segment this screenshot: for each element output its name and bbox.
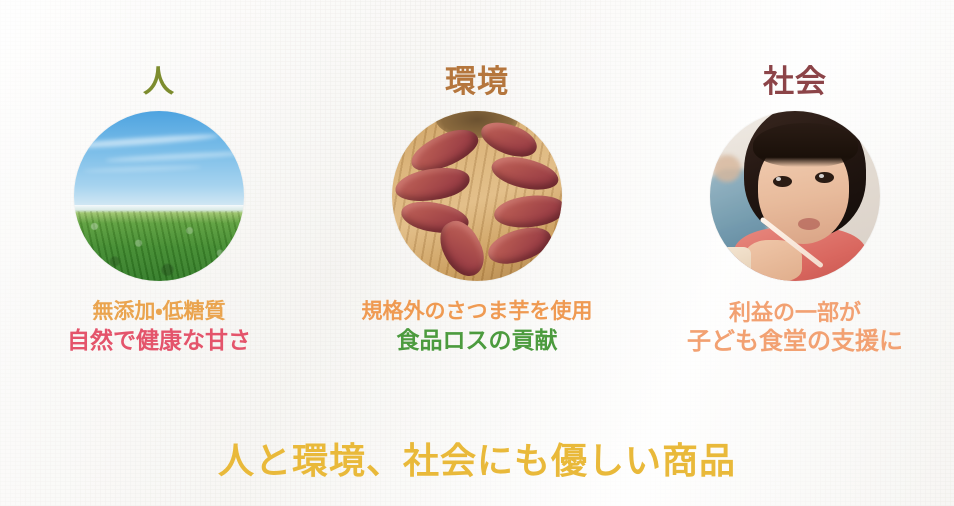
pillar-heading-hito: 人 xyxy=(143,66,175,97)
child-photo-scene xyxy=(710,111,880,281)
pillar-caption-shakai: 利益の一部が 子ども食堂の支援に xyxy=(687,299,903,358)
pillar-heading-shakai: 社会 xyxy=(763,66,827,97)
caption-line-secondary: 食品ロスの貢献 xyxy=(362,326,593,355)
value-pillar-hito: 人 無添加・低糖質 自然で健康な甘さ xyxy=(0,0,318,400)
slide-tagline: 人と環境、社会にも優しい商品 xyxy=(0,432,954,484)
sweet-potato-field-photo xyxy=(74,111,244,281)
drink-cup xyxy=(710,247,751,281)
cloud-streak-icon xyxy=(74,133,219,151)
caption-line-secondary: 自然で健康な甘さ xyxy=(67,326,251,355)
child-drinking-photo xyxy=(710,111,880,281)
pillar-caption-kankyo: 規格外のさつま芋を使用 食品ロスの貢献 xyxy=(362,299,593,355)
value-pillar-kankyo: 環境 規格外のさつま芋を使用 食品ロスの貢献 xyxy=(318,0,636,400)
pillar-heading-kankyo: 環境 xyxy=(445,66,509,97)
cloud-streak-icon xyxy=(105,150,244,163)
value-pillars-row: 人 無添加・低糖質 自然で健康な甘さ 環境 xyxy=(0,0,954,400)
sweet-potatoes-photo xyxy=(392,111,562,281)
potatoes-photo-scene xyxy=(392,111,562,281)
caption-line-secondary: 子ども食堂の支援に xyxy=(687,327,903,358)
eye-highlight xyxy=(819,174,824,178)
caption-line-primary: 規格外のさつま芋を使用 xyxy=(362,299,593,326)
background-person-head xyxy=(713,155,740,182)
value-pillar-shakai: 社会 xyxy=(636,0,954,400)
caption-line-primary: 利益の一部が xyxy=(687,299,903,327)
caption-line-primary: 無添加・低糖質 xyxy=(67,299,251,326)
slide-canvas: 人 無添加・低糖質 自然で健康な甘さ 環境 xyxy=(0,0,954,506)
pillar-caption-hito: 無添加・低糖質 自然で健康な甘さ xyxy=(67,299,251,355)
crop-foliage-texture xyxy=(74,211,244,281)
child-bangs xyxy=(753,123,858,167)
field-photo-scene xyxy=(74,111,244,281)
cloud-streak-icon xyxy=(82,165,201,173)
